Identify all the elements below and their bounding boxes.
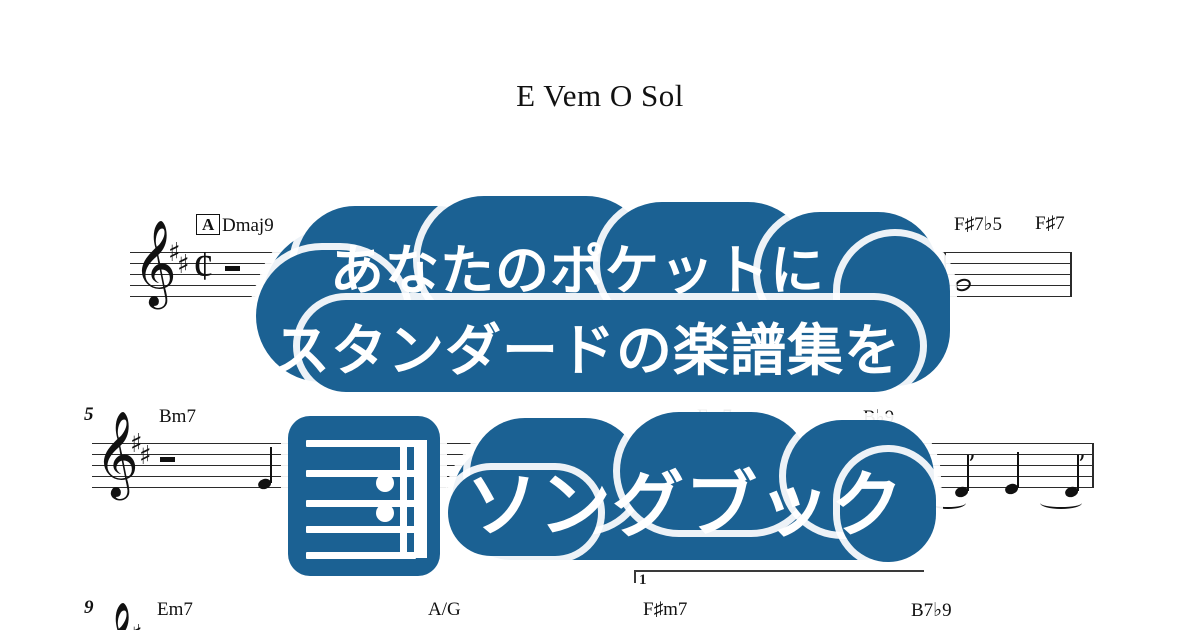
barline-2-c xyxy=(690,443,692,488)
chord-fsharpm7: F♯m7 xyxy=(643,599,687,621)
chord-dmaj9: Dmaj9 xyxy=(222,215,274,237)
chord-em7: Em7 xyxy=(157,599,193,621)
barline-1-b xyxy=(620,252,622,297)
half-rest-icon xyxy=(225,266,240,271)
chord-bflat9: B♭9 xyxy=(863,406,894,429)
chord-b7flat9: B7♭9 xyxy=(911,599,952,622)
cut-time-signature-icon: ¢ xyxy=(193,246,214,288)
measure-number-9: 9 xyxy=(84,597,94,619)
rehearsal-mark-a: A xyxy=(196,214,220,235)
barline-2-end xyxy=(1092,443,1094,488)
volta-number: 1 xyxy=(639,572,647,589)
barline-2-b xyxy=(510,443,512,488)
chord-bm7: Bm7 xyxy=(159,406,196,428)
barline-1-c xyxy=(800,252,802,297)
key-sharp-2-icon: ♯ xyxy=(177,252,190,278)
sheet-music-background: E Vem O Sol A Dmaj9 F♯7sus4 F♯7♭5 F♯7 𝄞 … xyxy=(0,0,1200,630)
barline-2-a xyxy=(299,443,301,488)
page-title: E Vem O Sol xyxy=(0,78,1200,114)
chord-fsharp7sus4: F♯7sus4 xyxy=(786,214,843,234)
chord-fm7: Fm7 xyxy=(697,406,732,428)
measure-number-5: 5 xyxy=(84,404,94,426)
key-sharp-2-icon-2: ♯ xyxy=(139,443,152,469)
poster-canvas: E Vem O Sol A Dmaj9 F♯7sus4 F♯7♭5 F♯7 𝄞 … xyxy=(0,0,1200,630)
barline-1-a xyxy=(403,252,405,297)
barline-1-end xyxy=(1070,252,1072,297)
tie-m8-a xyxy=(930,497,966,509)
chord-fsharp7: F♯7 xyxy=(1035,213,1065,235)
chord-fsharp7flat5: F♯7♭5 xyxy=(954,213,1002,236)
barline-2-d xyxy=(855,443,857,488)
key-sharp-1-icon-3: ♯ xyxy=(130,622,143,630)
barline-1-d xyxy=(944,252,946,297)
half-rest-icon-2 xyxy=(160,457,175,462)
chord-a-over-g: A/G xyxy=(428,599,461,621)
tie-m8-b xyxy=(1040,497,1082,509)
